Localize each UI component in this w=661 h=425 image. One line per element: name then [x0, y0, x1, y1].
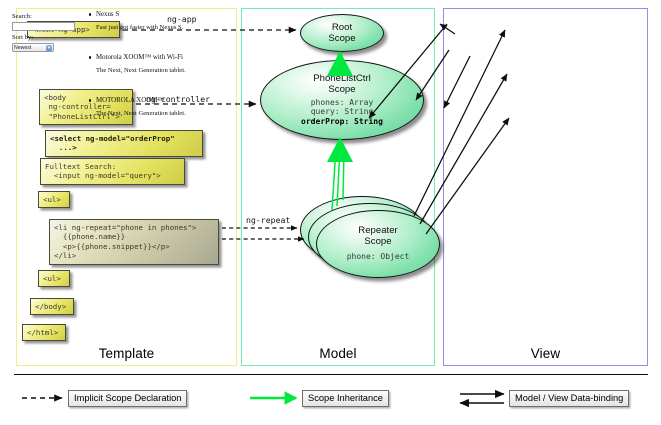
legend-label-data-binding: Model / View Data-binding — [509, 390, 629, 407]
arrow-label-ng-repeat: ng-repeat — [246, 215, 290, 225]
scope-title-phonelistctrl: PhoneListCtrl Scope — [261, 61, 423, 96]
view-column-panel: View — [443, 8, 648, 366]
view-sort-selected-value: Newest — [14, 45, 31, 51]
model-column-label: Model — [242, 346, 434, 361]
scope-prop-orderprop: orderProp: String — [261, 117, 423, 127]
template-box-html-close: </html> — [22, 324, 66, 341]
scope-ellipse-repeater: Repeater Scope phone: Object — [316, 210, 440, 278]
arrow-label-ng-app: ng-app — [167, 14, 197, 24]
scope-title-repeater: Repeater Scope — [317, 211, 439, 248]
bullet-icon — [89, 13, 91, 15]
scope-title-root: Root Scope — [301, 15, 383, 45]
view-phone-item: Motorola XOOM™ with Wi-Fi The Next, Next… — [96, 54, 186, 74]
arrow-label-ng-controller: ng-controller — [146, 94, 210, 104]
scope-prop-query: query: String — [261, 107, 423, 117]
legend-label-scope-inheritance: Scope Inheritance — [302, 390, 389, 407]
template-box-ul-close: <ul> — [38, 270, 70, 287]
scope-prop-phones: phones: Array — [261, 98, 423, 108]
view-search-label: Search: — [12, 13, 32, 20]
view-sort-select[interactable]: Newest ▾ — [12, 43, 54, 52]
view-search-input[interactable] — [12, 22, 75, 31]
chevron-down-icon[interactable]: ▾ — [46, 45, 52, 51]
view-phone-snippet: Fast just got faster with Nexus S. — [96, 24, 183, 31]
template-box-ul-open: <ul> — [38, 191, 70, 208]
view-rendered-app: Search: Sort by: Newest ▾ Nexus S Fast j… — [7, 6, 197, 136]
template-box-li-ngrepeat: <li ng-repeat="phone in phones"> {{phone… — [49, 219, 219, 265]
bullet-icon — [89, 56, 91, 58]
scope-prop-phone: phone: Object — [317, 252, 439, 262]
view-phone-snippet: The Next, Next Generation tablet. — [96, 67, 186, 74]
bullet-icon — [89, 99, 91, 101]
template-box-body-close: </body> — [30, 298, 74, 315]
legend-separator — [14, 374, 648, 375]
view-column-label: View — [444, 346, 647, 361]
view-phone-snippet: The Next, Next Generation tablet. — [96, 110, 186, 117]
legend-label-implicit-scope-declaration: Implicit Scope Declaration — [68, 390, 187, 407]
scope-props-phonelistctrl: phones: Array query: String orderProp: S… — [261, 98, 423, 127]
view-phone-name[interactable]: Motorola XOOM™ with Wi-Fi — [96, 54, 186, 61]
scope-ellipse-root: Root Scope — [300, 14, 384, 52]
view-sort-label: Sort by: — [12, 34, 33, 41]
template-column-label: Template — [17, 346, 236, 361]
template-box-fulltext-search: Fulltext Search: <input ng-model="query"… — [40, 158, 185, 185]
scope-diagram-canvas: Template Model View <html ng-app> <body … — [0, 0, 661, 425]
scope-ellipse-phonelistctrl: PhoneListCtrl Scope phones: Array query:… — [260, 60, 424, 140]
